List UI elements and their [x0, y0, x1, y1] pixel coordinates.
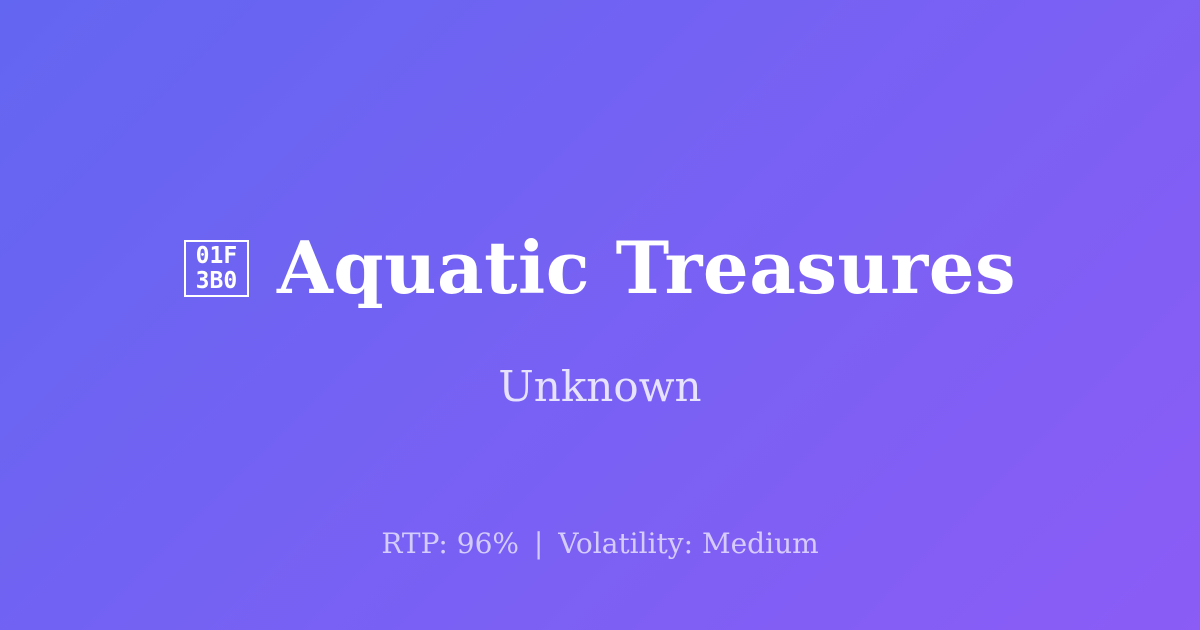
og-share-card: 01F 3B0 Aquatic Treasures Unknown RTP: 9…: [0, 0, 1200, 630]
page-title: Aquatic Treasures: [277, 232, 1016, 304]
stats-separator: |: [528, 527, 549, 560]
tofu-codepoint-top: 01F: [196, 244, 238, 269]
title-row: 01F 3B0 Aquatic Treasures: [0, 232, 1200, 304]
tofu-codepoint-bottom: 3B0: [196, 269, 238, 294]
provider-label: Unknown: [0, 362, 1200, 411]
game-stats-line: RTP: 96% | Volatility: Medium: [0, 527, 1200, 560]
slot-machine-emoji-icon: 01F 3B0: [184, 240, 249, 297]
rtp-value: RTP: 96%: [381, 527, 519, 560]
volatility-value: Volatility: Medium: [558, 527, 818, 560]
